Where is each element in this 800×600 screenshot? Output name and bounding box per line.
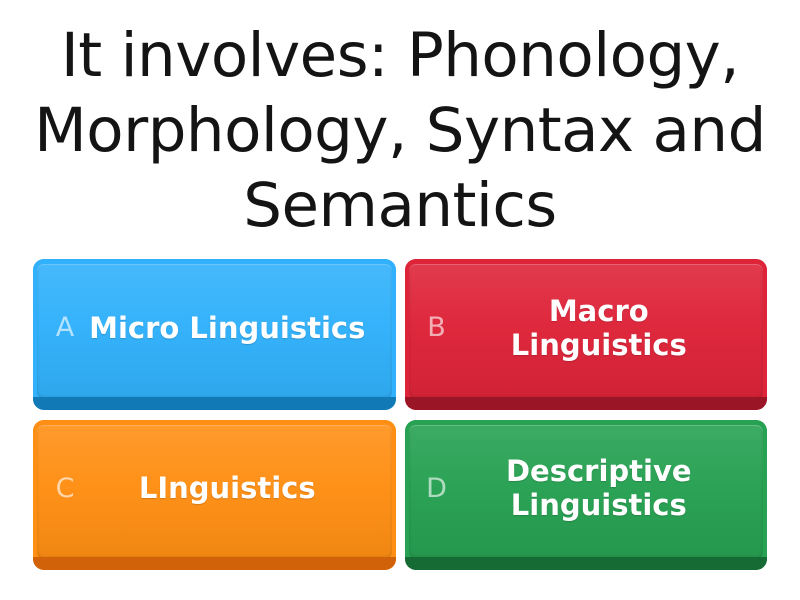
option-content: C LInguistics: [43, 420, 386, 564]
option-card-a[interactable]: A Micro Linguistics: [33, 259, 396, 410]
option-content: B Macro Linguistics: [415, 259, 758, 403]
option-card-d[interactable]: D Descriptive Linguistics: [405, 420, 768, 571]
question-area: It involves: Phonology, Morphology, Synt…: [0, 0, 800, 243]
option-content: A Micro Linguistics: [43, 259, 386, 403]
option-label-d: Descriptive Linguistics: [459, 454, 758, 522]
option-letter-c: C: [43, 475, 87, 502]
option-letter-d: D: [415, 475, 459, 502]
option-label-b: Macro Linguistics: [459, 294, 758, 362]
quiz-screen: It involves: Phonology, Morphology, Synt…: [0, 0, 800, 600]
option-letter-b: B: [415, 314, 459, 341]
option-label-a: Micro Linguistics: [87, 311, 386, 345]
option-content: D Descriptive Linguistics: [415, 420, 758, 564]
option-card-c[interactable]: C LInguistics: [33, 420, 396, 571]
question-text: It involves: Phonology, Morphology, Synt…: [28, 18, 772, 243]
option-letter-a: A: [43, 314, 87, 341]
option-card-b[interactable]: B Macro Linguistics: [405, 259, 768, 410]
option-label-c: LInguistics: [87, 471, 386, 505]
options-grid: A Micro Linguistics B Macro Linguistics …: [0, 243, 800, 600]
